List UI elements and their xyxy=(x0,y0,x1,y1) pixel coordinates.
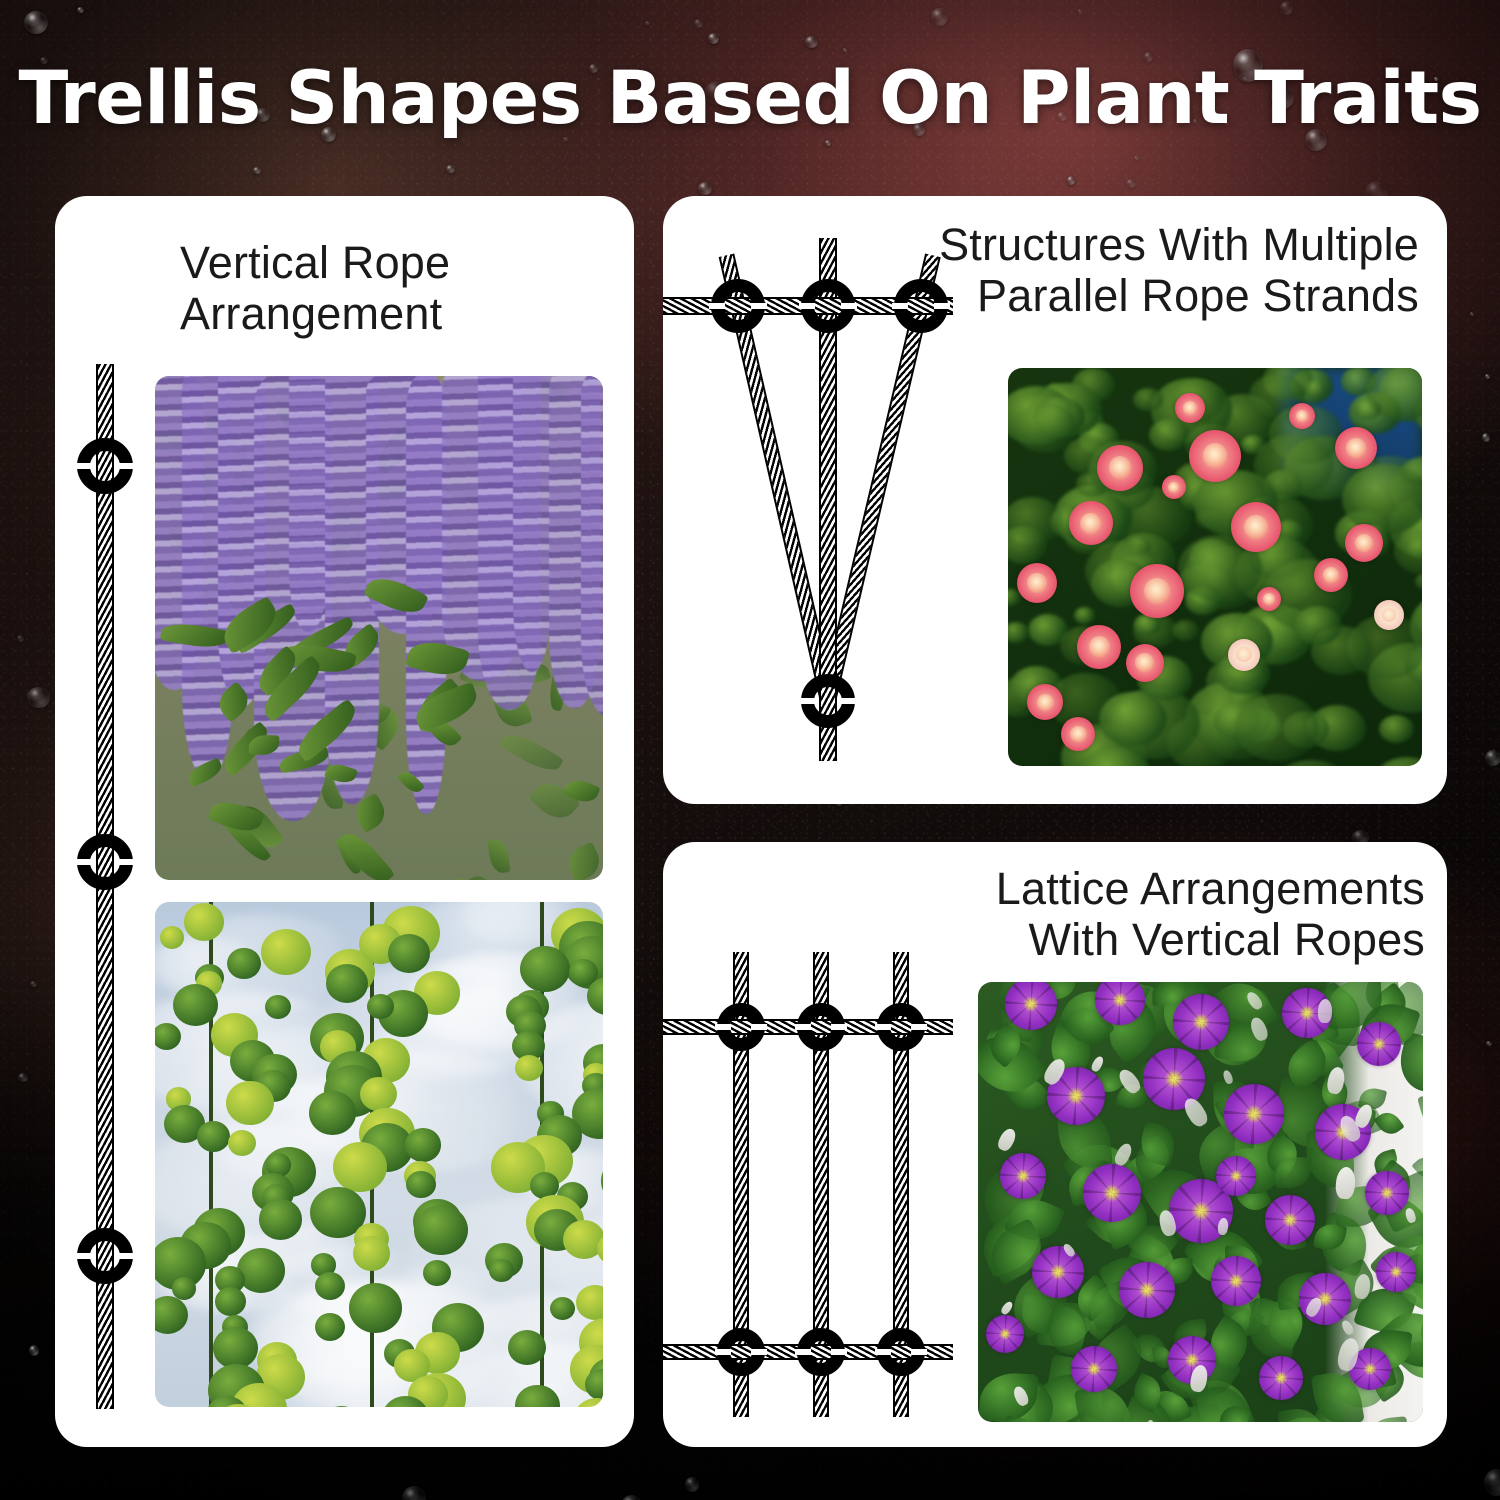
water-droplet xyxy=(931,8,948,27)
clematis-bloom xyxy=(1211,1256,1261,1306)
rope-ring-knot-2 xyxy=(77,834,133,890)
clematis-bloom xyxy=(1224,1084,1284,1144)
clematis-bloom xyxy=(1265,1195,1315,1245)
water-droplet xyxy=(805,36,818,48)
rope-ring-knot-1 xyxy=(77,438,133,494)
clematis-bloom xyxy=(1032,1246,1084,1298)
card-lattice-vertical-ropes: Lattice Arrangements With Vertical Ropes xyxy=(663,842,1447,1447)
water-droplet xyxy=(698,182,712,195)
clematis-bloom xyxy=(1259,1356,1303,1400)
rose-bloom xyxy=(1175,393,1205,423)
clematis-bloom xyxy=(1357,1022,1401,1066)
rope-ring-knot-bar-1 xyxy=(711,279,765,333)
wisteria-raceme xyxy=(581,376,603,716)
clematis-bloom xyxy=(1005,982,1057,1030)
rose-bloom xyxy=(1017,563,1057,603)
water-droplet xyxy=(1485,750,1500,767)
rose-bloom xyxy=(1162,475,1186,499)
water-droplet xyxy=(27,687,51,707)
page-title: Trellis Shapes Based On Plant Traits xyxy=(0,62,1500,135)
rope-ring-knot-3 xyxy=(77,1228,133,1284)
water-droplet xyxy=(1126,179,1137,188)
rose-bloom xyxy=(1069,501,1113,545)
clematis-photo xyxy=(978,982,1423,1422)
rose-bloom xyxy=(1130,564,1184,618)
rope-ring-knot-bar-2 xyxy=(801,279,855,333)
rose-bloom xyxy=(1314,558,1348,592)
card-multiple-parallel-rope-strands: Structures With Multiple Parallel Rope S… xyxy=(663,196,1447,804)
clematis-bloom xyxy=(1299,1273,1351,1325)
wisteria-raceme xyxy=(289,376,328,632)
rope-ring-knot-1-2 xyxy=(797,1003,845,1051)
water-droplet xyxy=(1134,156,1139,160)
water-droplet xyxy=(18,1073,28,1081)
rose-bloom xyxy=(1077,625,1121,669)
rose-bloom xyxy=(1097,445,1143,491)
rose-bloom xyxy=(1126,644,1164,682)
wisteria-raceme xyxy=(513,376,551,672)
rose-bloom xyxy=(1289,403,1315,429)
rope-ring-knot-convergence xyxy=(801,674,855,728)
rose-bloom xyxy=(1335,427,1377,469)
rope-ring-knot-2-2 xyxy=(797,1328,845,1376)
clematis-bloom xyxy=(1083,1164,1141,1222)
water-droplet xyxy=(24,11,48,34)
water-droplet xyxy=(1470,312,1474,316)
rope-ring-knot-1-3 xyxy=(877,1003,925,1051)
water-droplet xyxy=(29,1345,39,1356)
card-vertical-rope-arrangement: Vertical Rope Arrangement xyxy=(55,196,634,1447)
clematis-bloom xyxy=(1216,1156,1256,1196)
clematis-bloom xyxy=(1071,1346,1117,1392)
water-droplet xyxy=(685,1477,699,1492)
rose-bloom xyxy=(1228,639,1260,671)
rope-ring-knot-2-1 xyxy=(717,1328,765,1376)
wisteria-photo xyxy=(155,376,603,880)
water-droplet xyxy=(1485,374,1490,378)
rose-bloom xyxy=(1189,430,1241,482)
water-droplet xyxy=(825,140,832,146)
rope-ring-knot-2-3 xyxy=(877,1328,925,1376)
water-droplet xyxy=(1067,176,1075,185)
water-droplet xyxy=(708,33,719,43)
rose-bloom xyxy=(1345,524,1383,562)
clematis-bloom xyxy=(986,1315,1024,1353)
clematis-bloom xyxy=(1000,1153,1046,1199)
rose-bloom xyxy=(1257,587,1281,611)
climbing-rose-photo xyxy=(1008,368,1422,766)
water-droplet xyxy=(1486,1041,1492,1046)
clematis-bloom xyxy=(1119,1262,1175,1318)
water-droplet xyxy=(446,165,454,173)
rope-ring-knot-bar-3 xyxy=(894,279,948,333)
rose-bloom xyxy=(1374,600,1404,630)
climbing-vine-photo xyxy=(155,902,603,1407)
rope-ring-knot-1-1 xyxy=(717,1003,765,1051)
clematis-bloom xyxy=(1173,994,1229,1050)
